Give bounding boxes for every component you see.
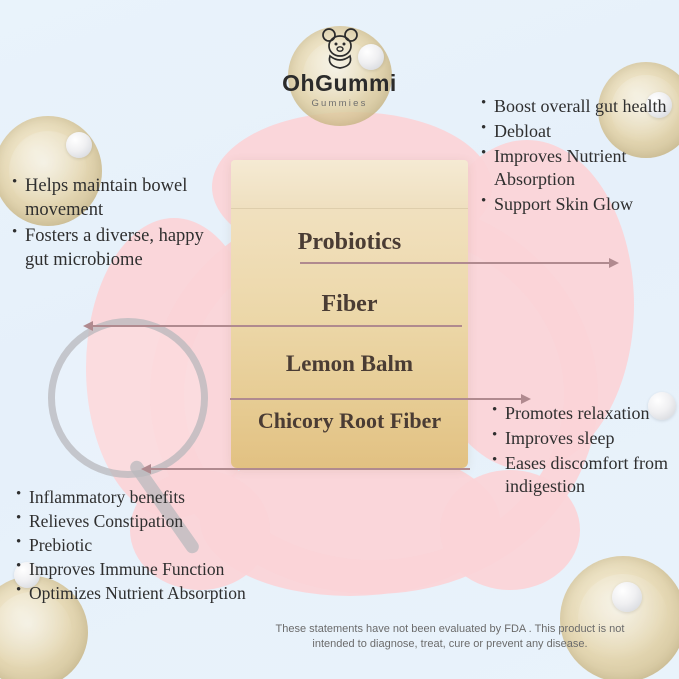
list-item: Eases discomfort from indigestion [490, 452, 675, 500]
arrow-to-bottom-right [230, 398, 522, 400]
ingredient-label-lemon-balm: Lemon Balm [231, 352, 468, 375]
list-item: Improves sleep [490, 427, 675, 451]
list-item: Improves Immune Function [14, 558, 254, 581]
pearl-bead-top-left [66, 132, 92, 158]
list-item: Debloat [479, 120, 679, 144]
list-item: Support Skin Glow [479, 193, 679, 217]
arrow-to-top-left [92, 325, 462, 327]
jar-lid [231, 160, 468, 209]
durian-fruit-bottom-right [560, 556, 679, 679]
gummy-bear-icon [320, 26, 360, 70]
magnifier-lens-icon [48, 318, 208, 478]
list-item: Prebiotic [14, 534, 254, 557]
ingredient-label-chicory-root-fiber: Chicory Root Fiber [231, 410, 468, 432]
list-item: Inflammatory benefits [14, 486, 254, 509]
benefits-bottom-left: Inflammatory benefits Relieves Constipat… [14, 486, 254, 606]
benefits-top-left: Helps maintain bowel movement Fosters a … [10, 174, 225, 274]
list-item: Helps maintain bowel movement [10, 174, 225, 223]
list-item: Improves Nutrient Absorption [479, 145, 679, 193]
list-item: Boost overall gut health [479, 95, 679, 119]
supplement-jar: Probiotics Fiber Lemon Balm Chicory Root… [231, 160, 468, 468]
list-item: Fosters a diverse, happy gut microbiome [10, 224, 225, 273]
list-item: Optimizes Nutrient Absorption [14, 582, 254, 605]
brand-name: OhGummi [0, 72, 679, 95]
fda-disclaimer: These statements have not been evaluated… [262, 622, 638, 653]
ingredient-label-probiotics: Probiotics [231, 230, 468, 254]
arrow-to-bottom-left [150, 468, 470, 470]
arrow-to-top-right [300, 262, 610, 264]
benefits-bottom-right: Promotes relaxation Improves sleep Eases… [490, 402, 675, 500]
list-item: Promotes relaxation [490, 402, 675, 426]
list-item: Relieves Constipation [14, 510, 254, 533]
ingredient-label-fiber: Fiber [231, 292, 468, 316]
pearl-bead-bottom-right [612, 582, 642, 612]
infographic-page: OhGummi Gummies Probiotics Fiber Lemon B… [0, 0, 679, 679]
benefits-top-right: Boost overall gut health Debloat Improve… [479, 95, 679, 218]
